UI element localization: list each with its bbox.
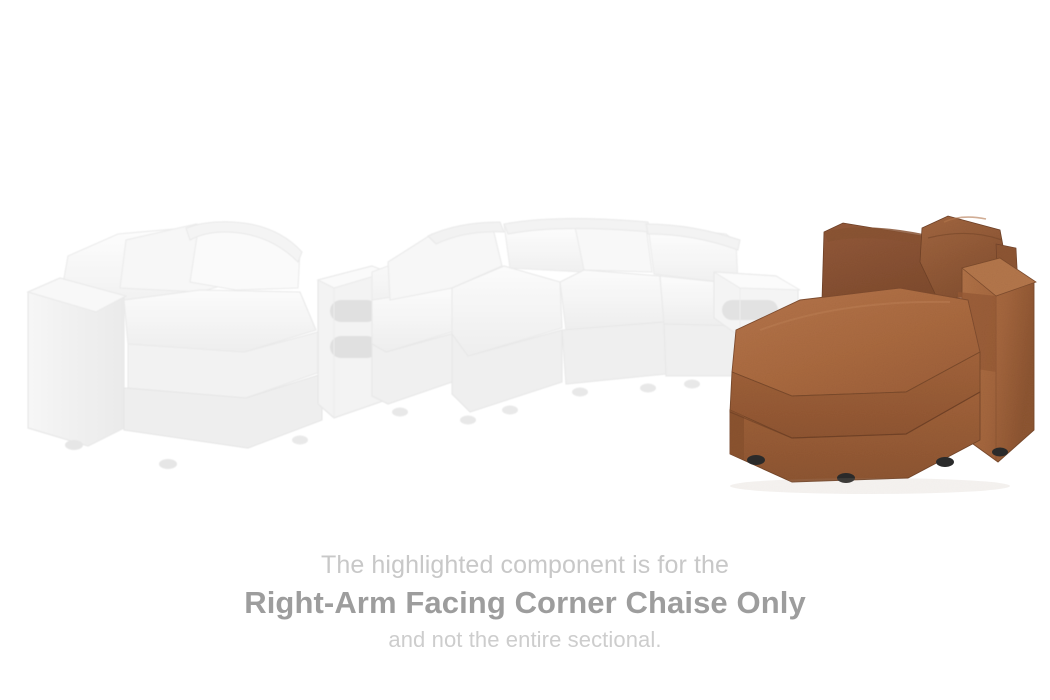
- caption-line-disclaimer: and not the entire sectional.: [0, 624, 1050, 655]
- cupholder-slot: [330, 336, 378, 358]
- component-left-end-loveseat: [28, 222, 322, 469]
- foot: [684, 380, 700, 389]
- caption-block: The highlighted component is for the Rig…: [0, 548, 1050, 655]
- component-right-arm-facing-corner-chaise: [730, 216, 1036, 494]
- foot: [292, 436, 308, 445]
- product-image-canvas: The highlighted component is for the Rig…: [0, 0, 1050, 700]
- caption-line-intro: The highlighted component is for the: [0, 548, 1050, 582]
- foot: [572, 388, 588, 397]
- foot: [65, 440, 83, 450]
- chaise-foot: [992, 448, 1008, 457]
- foot: [392, 408, 408, 417]
- foot: [159, 459, 177, 469]
- foot: [640, 384, 656, 393]
- sectional-sofa-illustration: [0, 0, 1050, 540]
- cupholder-slot: [330, 300, 378, 322]
- chaise-foot: [936, 457, 954, 467]
- ghosted-sectional-group: [28, 218, 800, 469]
- caption-line-component-name: Right-Arm Facing Corner Chaise Only: [0, 582, 1050, 624]
- sofa-svg: [0, 0, 1050, 540]
- foot: [460, 416, 476, 425]
- foot: [502, 406, 518, 415]
- chaise-foot: [747, 455, 765, 465]
